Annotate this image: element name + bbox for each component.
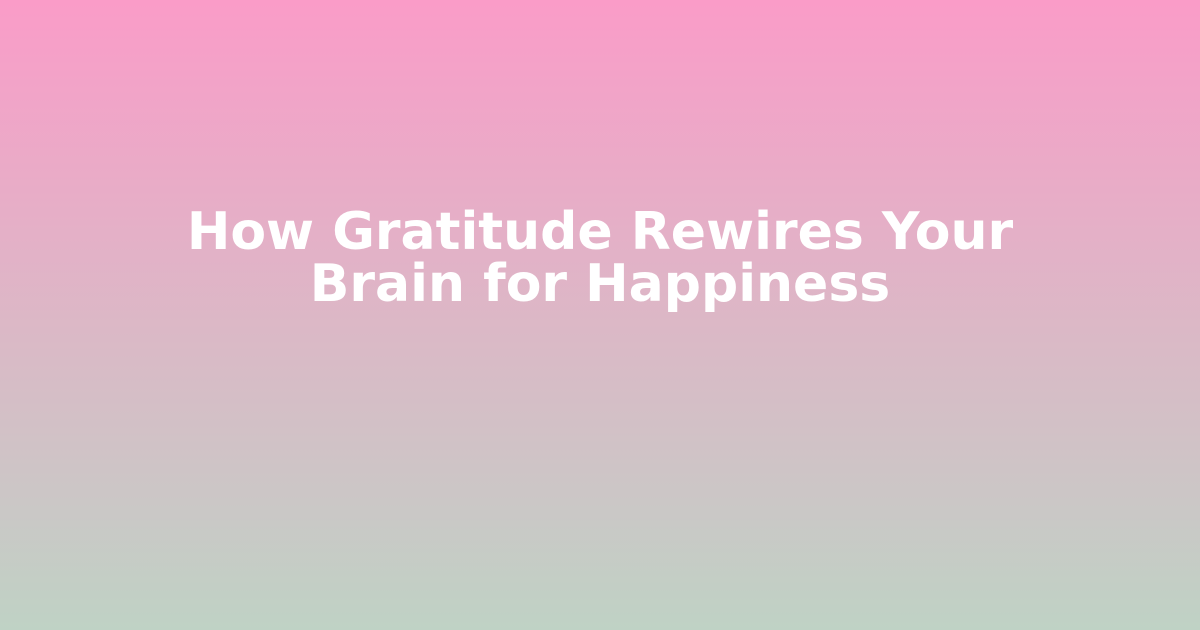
hero-card: How Gratitude Rewires Your Brain for Hap… xyxy=(0,0,1200,630)
page-title: How Gratitude Rewires Your Brain for Hap… xyxy=(113,206,1088,310)
title-block: How Gratitude Rewires Your Brain for Hap… xyxy=(0,0,1200,310)
